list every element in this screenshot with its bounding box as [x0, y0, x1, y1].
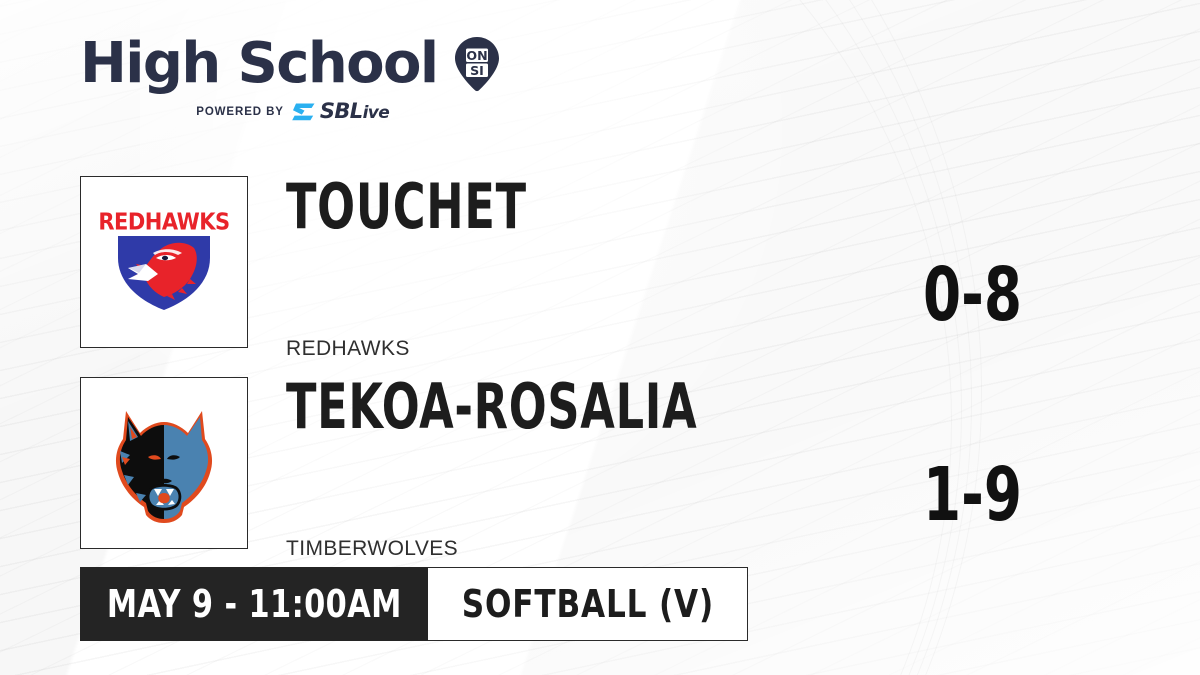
sblive-logo: SBLive	[292, 101, 389, 122]
powered-by-label: POWERED BY	[196, 106, 284, 118]
svg-text:ON: ON	[467, 48, 488, 63]
home-team-name: TEKOA-ROSALIA	[286, 376, 697, 438]
sblive-word-lower: ive	[363, 103, 390, 123]
game-datetime-block: MAY 9 - 11:00AM	[80, 567, 428, 641]
game-sport-block: SOFTBALL (V)	[428, 567, 748, 641]
away-team-name: TOUCHET	[286, 176, 527, 238]
redhawks-logo-icon: REDHAWKS	[98, 196, 230, 328]
away-team-mascot: REDHAWKS	[286, 337, 410, 361]
home-team-record: 1-9	[923, 458, 1022, 532]
on-si-pin-icon: ON SI	[449, 36, 505, 92]
game-datetime-label: MAY 9 - 11:00AM	[107, 585, 402, 623]
sblive-s-mark-icon	[292, 102, 317, 122]
away-team-logo-box: REDHAWKS	[80, 176, 248, 348]
home-team-logo-box	[80, 377, 248, 549]
brand-header: High School ON SI POWERED BY SBLive	[80, 36, 505, 122]
svg-text:REDHAWKS: REDHAWKS	[98, 208, 229, 235]
timberwolves-logo-icon	[104, 401, 224, 525]
sblive-wordmark: SBLive	[320, 101, 389, 122]
powered-by-row: POWERED BY SBLive	[196, 101, 389, 122]
scoreboard-graphic: High School ON SI POWERED BY SBLive	[0, 0, 1200, 675]
game-info-bar: MAY 9 - 11:00AM SOFTBALL (V)	[80, 567, 748, 641]
brand-title: High School	[80, 36, 437, 92]
away-team-record: 0-8	[923, 258, 1022, 332]
brand-title-row: High School ON SI	[80, 36, 505, 92]
home-team-mascot: TIMBERWOLVES	[286, 537, 458, 561]
svg-text:SI: SI	[471, 63, 485, 78]
game-sport-label: SOFTBALL (V)	[461, 585, 713, 623]
sblive-word-upper: SBL	[320, 99, 363, 123]
